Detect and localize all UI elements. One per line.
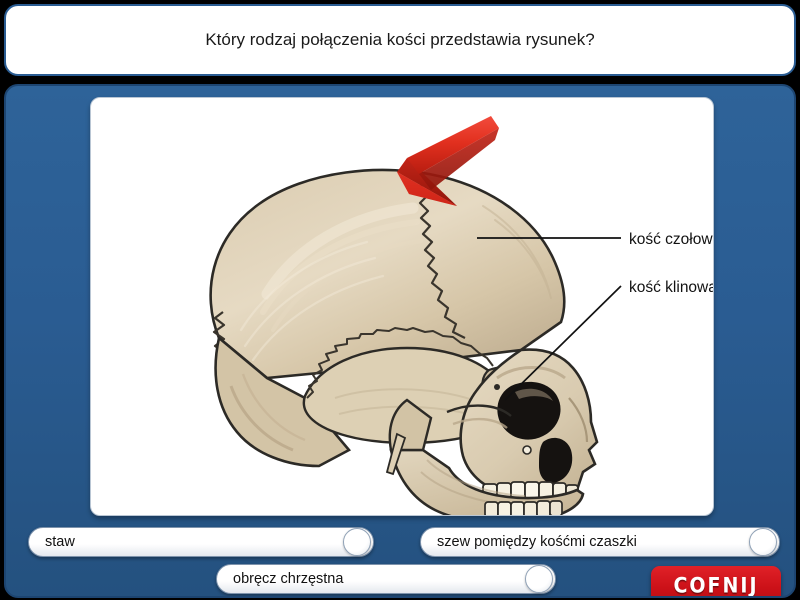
quiz-body-panel: kość czołowa kość klinowa staw szew pomi… — [4, 84, 796, 598]
back-button[interactable]: COFNIJ — [651, 566, 781, 598]
answer-label-staw: staw — [29, 534, 115, 550]
illustration-stage: kość czołowa kość klinowa — [90, 97, 714, 516]
skull-graphic: kość czołowa kość klinowa — [211, 116, 713, 515]
answer-row-top: staw szew pomiędzy kośćmi czaszki — [28, 527, 780, 557]
answer-label-obrecz: obręcz chrzęstna — [217, 571, 383, 587]
back-button-label: COFNIJ — [673, 574, 758, 598]
lower-teeth — [485, 501, 562, 515]
question-panel: Który rodzaj połączenia kości przedstawi… — [4, 4, 796, 76]
answer-option-szew[interactable]: szew pomiędzy kośćmi czaszki — [420, 527, 780, 557]
answer-radio-szew[interactable] — [749, 528, 777, 556]
skull-illustration: kość czołowa kość klinowa — [91, 98, 713, 515]
label-frontal-bone: kość czołowa — [629, 231, 713, 248]
answer-label-szew: szew pomiędzy kośćmi czaszki — [421, 534, 677, 550]
answer-option-obrecz[interactable]: obręcz chrzęstna — [216, 564, 556, 594]
answer-option-staw[interactable]: staw — [28, 527, 374, 557]
label-sphenoid-bone: kość klinowa — [629, 279, 713, 296]
question-text: Który rodzaj połączenia kości przedstawi… — [181, 29, 618, 51]
answer-radio-obrecz[interactable] — [525, 565, 553, 593]
answer-row-bottom: obręcz chrzęstna — [216, 564, 556, 594]
answer-radio-staw[interactable] — [343, 528, 371, 556]
